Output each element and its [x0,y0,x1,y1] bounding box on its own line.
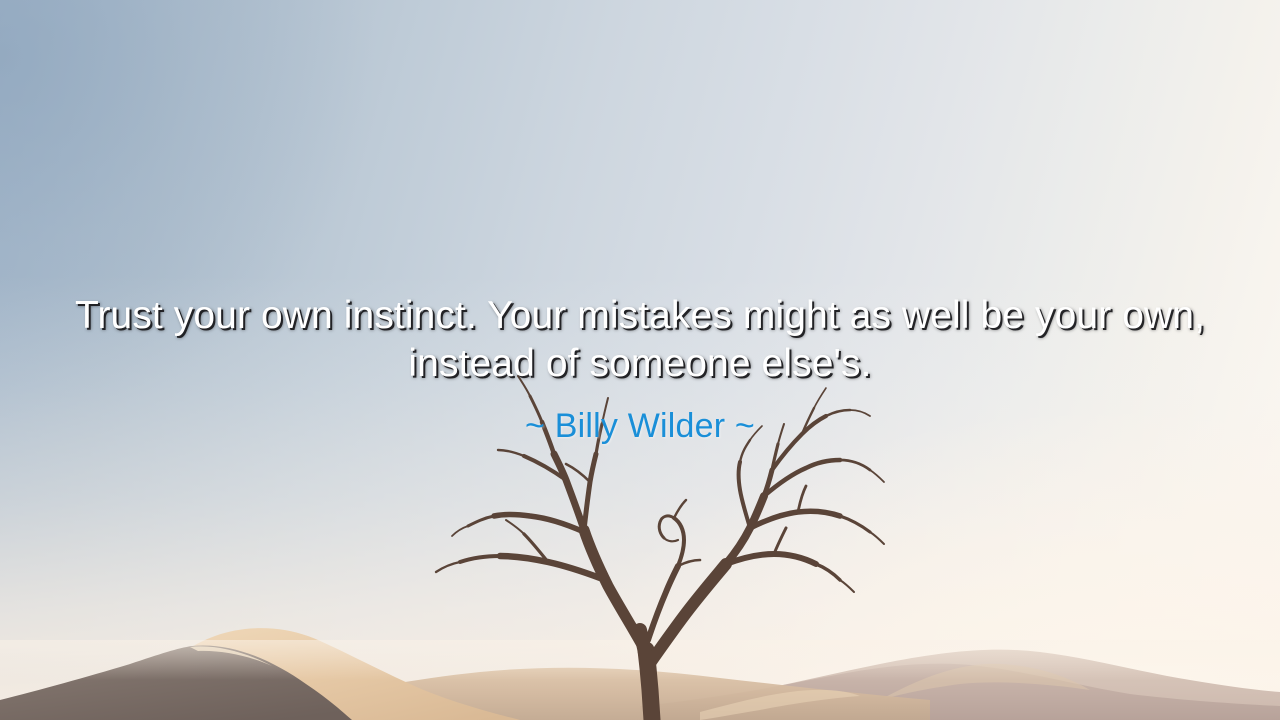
quote-overlay: Trust your own instinct. Your mistakes m… [0,292,1280,446]
quote-image-canvas: Trust your own instinct. Your mistakes m… [0,0,1280,720]
horizon-haze [0,640,1280,680]
quote-text: Trust your own instinct. Your mistakes m… [0,292,1280,388]
quote-author: ~ Billy Wilder ~ [0,406,1280,446]
